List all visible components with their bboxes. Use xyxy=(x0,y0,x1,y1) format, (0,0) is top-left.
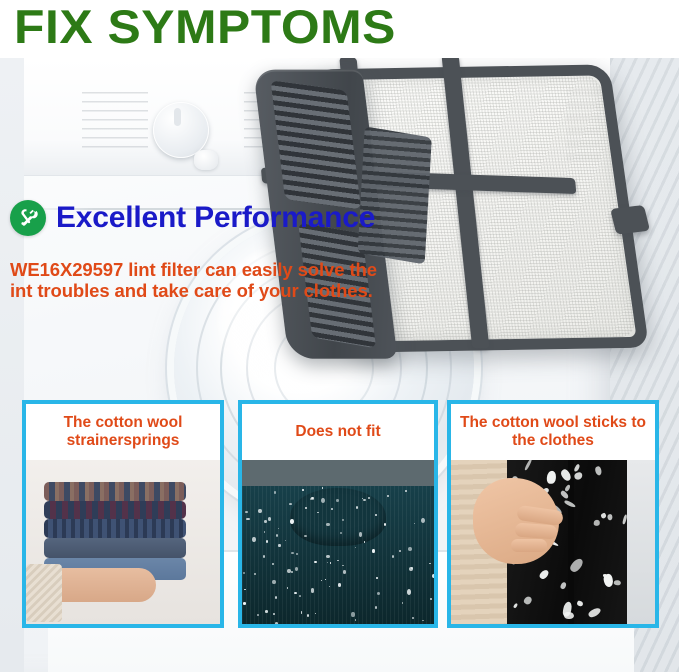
lint-speck xyxy=(409,567,413,571)
header-band: FIX SYMPTOMS xyxy=(0,0,679,58)
panel-image-folded-clothes xyxy=(26,460,220,624)
lint-speck xyxy=(246,518,250,520)
lint-speck xyxy=(375,606,377,609)
lint-speck xyxy=(285,540,286,541)
lint-speck xyxy=(275,622,278,624)
lint-speck xyxy=(296,553,299,555)
lint-speck xyxy=(408,547,412,551)
clothes-layer xyxy=(44,501,186,519)
folded-clothes-stack xyxy=(44,482,184,578)
lint-speck xyxy=(275,596,277,599)
lint-fluff-piece xyxy=(513,602,518,608)
lint-speck xyxy=(290,519,294,524)
lint-speck xyxy=(327,562,328,563)
lint-fluff-piece xyxy=(538,568,549,580)
lint-speck xyxy=(243,572,246,575)
lint-speck xyxy=(274,491,276,493)
lint-speck xyxy=(257,614,259,616)
feature-heading: Excellent Performance xyxy=(56,201,375,235)
lint-fluff-piece xyxy=(560,581,567,589)
lint-speck xyxy=(264,531,265,532)
lint-speck xyxy=(291,571,293,573)
lint-speck xyxy=(295,567,298,571)
lint-speck xyxy=(392,555,394,558)
lint-speck xyxy=(263,555,265,558)
floor-right xyxy=(627,460,655,624)
panel-caption-2: Does not fit xyxy=(242,404,434,460)
lint-speck xyxy=(322,487,323,488)
lint-fluff-piece xyxy=(594,520,601,526)
lint-speck xyxy=(294,592,297,594)
lint-speck xyxy=(329,586,331,587)
dryer-small-knob xyxy=(194,150,218,170)
lint-speck xyxy=(399,550,401,552)
panel-caption-1: The cotton wool strainersprings xyxy=(26,404,220,460)
lint-speck xyxy=(326,523,330,527)
lint-speck xyxy=(342,565,344,567)
lint-speck xyxy=(407,589,411,595)
lint-speck xyxy=(414,523,415,525)
lint-speck xyxy=(351,612,355,617)
lint-speck xyxy=(273,613,275,615)
lint-speck xyxy=(375,514,377,516)
panel-caption-3-text: The cotton wool sticks to the clothes xyxy=(457,414,649,450)
lint-speck xyxy=(254,573,256,575)
lint-speck xyxy=(326,555,330,558)
lint-speck xyxy=(429,563,431,565)
lint-fluff-piece xyxy=(524,460,533,471)
lint-speck xyxy=(338,583,342,587)
lint-speck xyxy=(421,518,425,523)
lint-speck xyxy=(359,532,362,537)
lint-speck xyxy=(301,611,303,613)
lint-speck xyxy=(330,562,331,564)
lint-speck xyxy=(340,532,342,534)
sweater-collar xyxy=(290,488,386,546)
lint-speck xyxy=(384,523,386,526)
ribbed-sweater xyxy=(242,486,434,624)
lint-speck xyxy=(321,498,325,503)
lint-speck xyxy=(325,579,326,580)
lint-fluff-piece xyxy=(600,513,607,520)
product-infographic: FIX SYMPTOMS xyxy=(0,0,679,672)
lint-speck xyxy=(430,598,432,600)
lint-speck xyxy=(307,614,309,617)
lint-speck xyxy=(265,610,268,613)
lint-speck xyxy=(337,560,338,561)
lint-fluff-piece xyxy=(613,579,621,585)
finger xyxy=(511,539,547,552)
lint-speck xyxy=(272,580,276,585)
lint-speck xyxy=(243,602,247,605)
panel-image-linty-jeans xyxy=(451,460,655,624)
panel-caption-2-text: Does not fit xyxy=(295,423,380,441)
lint-speck xyxy=(432,574,434,578)
lint-speck xyxy=(402,602,403,603)
lint-speck xyxy=(314,561,317,564)
lint-speck xyxy=(355,619,356,621)
lint-speck xyxy=(315,613,316,614)
lint-speck xyxy=(376,577,378,579)
lint-speck xyxy=(343,570,346,574)
lint-speck xyxy=(278,528,279,529)
clothes-layer xyxy=(44,482,186,501)
lint-speck xyxy=(387,495,388,496)
lint-speck xyxy=(299,595,301,597)
symptom-panel-1: The cotton wool strainersprings xyxy=(22,400,224,628)
lint-fluff-piece xyxy=(576,601,583,608)
symptom-panel-3: The cotton wool sticks to the clothes xyxy=(447,400,659,628)
lint-speck xyxy=(291,552,294,554)
lint-fluff-piece xyxy=(573,463,581,472)
lint-speck xyxy=(258,509,262,513)
lint-speck xyxy=(355,547,356,548)
lint-fluff-piece xyxy=(587,606,602,619)
lint-speck xyxy=(342,519,344,521)
lint-fluff-piece xyxy=(574,471,583,480)
lint-speck xyxy=(264,520,267,523)
panel-image-linty-sweater xyxy=(242,460,434,624)
clothes-layer xyxy=(44,519,186,538)
lint-speck xyxy=(252,537,256,542)
lint-speck xyxy=(377,592,380,595)
lint-speck xyxy=(310,498,314,501)
lint-speck xyxy=(266,540,269,543)
knit-sleeve xyxy=(26,564,62,622)
lint-speck xyxy=(287,587,289,589)
body-line-1: WE16X29597 lint filter can easily solve … xyxy=(10,259,430,280)
lint-fluff-piece xyxy=(547,471,557,484)
lint-fluff-piece xyxy=(595,466,603,476)
lint-speck xyxy=(272,563,274,565)
body-line-2: int troubles and take care of your cloth… xyxy=(10,280,430,301)
page-title: FIX SYMPTOMS xyxy=(14,0,396,56)
lint-fluff-piece xyxy=(607,514,613,521)
lint-speck xyxy=(244,589,245,590)
control-label-marks xyxy=(82,92,148,154)
filter-vent-slots xyxy=(271,80,362,209)
panel-caption-1-text: The cotton wool strainersprings xyxy=(32,414,214,450)
lint-speck xyxy=(245,511,248,513)
lint-speck xyxy=(278,544,280,547)
lint-speck xyxy=(289,503,292,505)
lint-speck xyxy=(302,489,304,491)
lint-speck xyxy=(311,588,315,592)
lint-speck xyxy=(412,617,414,619)
lint-speck xyxy=(372,549,375,553)
symptom-panel-2: Does not fit xyxy=(238,400,438,628)
lint-speck xyxy=(276,534,278,537)
feature-body-copy: WE16X29597 lint filter can easily solve … xyxy=(10,259,430,301)
filter-tab-lip xyxy=(610,205,650,235)
lint-speck xyxy=(268,517,271,521)
lint-speck xyxy=(405,490,406,492)
lint-fluff-piece xyxy=(523,595,533,605)
clothes-layer xyxy=(44,538,186,558)
feature-heading-row: Excellent Performance xyxy=(10,196,375,240)
panel-caption-3: The cotton wool sticks to the clothes xyxy=(451,404,655,460)
finger xyxy=(515,523,558,540)
symptom-panels: The cotton wool strainersprings Does not… xyxy=(0,400,679,630)
lint-speck xyxy=(422,620,424,621)
lint-speck xyxy=(321,580,322,581)
tools-gear-icon xyxy=(10,200,46,236)
